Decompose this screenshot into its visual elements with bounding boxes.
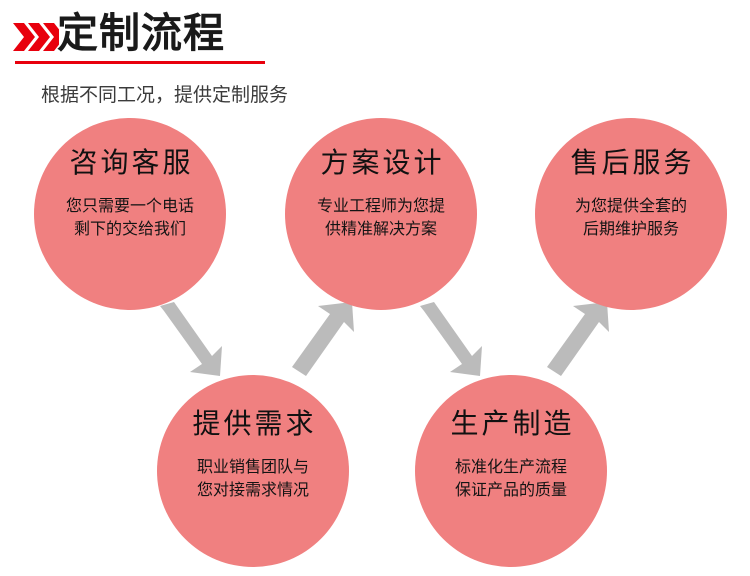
flow-node-desc-line: 职业销售团队与: [197, 455, 309, 478]
arrow-up-right-icon: [543, 300, 615, 376]
flow-node-desc-line: 您只需要一个电话: [66, 194, 194, 217]
flow-node-description: 您只需要一个电话 剩下的交给我们: [66, 194, 194, 240]
flow-node-desc-line: 剩下的交给我们: [66, 217, 194, 240]
arrow-down-right-icon: [152, 302, 224, 378]
flow-node-title: 售后服务: [567, 146, 694, 180]
flow-node-description: 职业销售团队与 您对接需求情况: [197, 455, 309, 501]
flow-node-desc-line: 后期维护服务: [575, 217, 687, 240]
flow-node-demand[interactable]: 提供需求 职业销售团队与 您对接需求情况: [157, 375, 349, 567]
flow-node-desc-line: 供精准解决方案: [317, 217, 445, 240]
flow-node-desc-line: 标准化生产流程: [455, 455, 567, 478]
flow-node-desc-line: 为您提供全套的: [575, 194, 687, 217]
flow-node-description: 标准化生产流程 保证产品的质量: [455, 455, 567, 501]
flow-node-desc-line: 保证产品的质量: [455, 478, 567, 501]
flow-node-produce[interactable]: 生产制造 标准化生产流程 保证产品的质量: [415, 375, 607, 567]
customization-flow-diagram: 咨询客服 您只需要一个电话 剩下的交给我们 方案设计 专业工程师为您提 供精准解…: [0, 0, 750, 576]
flow-node-title: 生产制造: [447, 407, 574, 441]
arrow-up-right-icon: [288, 300, 360, 376]
flow-node-title: 咨询客服: [66, 146, 193, 180]
flow-node-desc-line: 您对接需求情况: [197, 478, 309, 501]
flow-node-title: 方案设计: [317, 146, 444, 180]
arrow-down-right-icon: [412, 302, 484, 378]
flow-node-title: 提供需求: [189, 407, 316, 441]
flow-node-consult[interactable]: 咨询客服 您只需要一个电话 剩下的交给我们: [34, 118, 226, 310]
flow-node-design[interactable]: 方案设计 专业工程师为您提 供精准解决方案: [285, 118, 477, 310]
flow-node-description: 为您提供全套的 后期维护服务: [575, 194, 687, 240]
flow-node-description: 专业工程师为您提 供精准解决方案: [317, 194, 445, 240]
flow-node-aftersales[interactable]: 售后服务 为您提供全套的 后期维护服务: [535, 118, 727, 310]
flow-node-desc-line: 专业工程师为您提: [317, 194, 445, 217]
